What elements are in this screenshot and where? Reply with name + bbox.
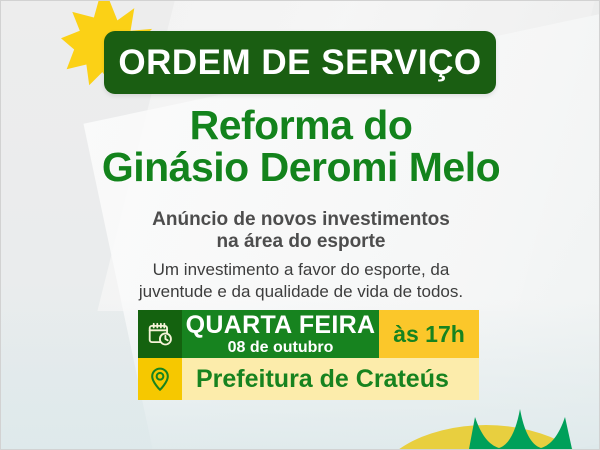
- poster-canvas: ORDEM DE SERVIÇO Reforma do Ginásio Dero…: [0, 0, 600, 450]
- event-datetime-row: QUARTA FEIRA 08 de outubro às 17h: [138, 310, 479, 358]
- event-info-box: QUARTA FEIRA 08 de outubro às 17h Prefei…: [138, 310, 479, 400]
- event-location-cell: Prefeitura de Crateús: [182, 358, 479, 400]
- event-date-day: 08 de outubro: [228, 340, 334, 356]
- page-title: Reforma do Ginásio Deromi Melo: [1, 105, 600, 189]
- event-location: Prefeitura de Crateús: [196, 365, 449, 394]
- event-date-cell: QUARTA FEIRA 08 de outubro: [182, 310, 379, 358]
- banner-label: ORDEM DE SERVIÇO: [118, 45, 481, 80]
- subtitle-line-2: na área do esporte: [1, 231, 600, 253]
- lead-line-1: Um investimento a favor do esporte, da: [1, 259, 600, 281]
- subtitle: Anúncio de novos investimentos na área d…: [1, 209, 600, 254]
- title-line-2: Ginásio Deromi Melo: [1, 147, 600, 189]
- lead-paragraph: Um investimento a favor do esporte, da j…: [1, 259, 600, 304]
- subtitle-line-1: Anúncio de novos investimentos: [1, 209, 600, 231]
- lead-line-2: juventude e da qualidade de vida de todo…: [1, 281, 600, 303]
- calendar-clock-icon: [138, 310, 182, 358]
- event-location-row: Prefeitura de Crateús: [138, 358, 479, 400]
- title-line-1: Reforma do: [1, 105, 600, 147]
- banner-ordem-de-servico: ORDEM DE SERVIÇO: [104, 31, 496, 94]
- green-crown-shape: [469, 405, 599, 449]
- event-time-cell: às 17h: [379, 310, 479, 358]
- map-pin-icon: [138, 358, 182, 400]
- event-time: às 17h: [393, 321, 465, 348]
- event-date-weekday: QUARTA FEIRA: [186, 313, 376, 338]
